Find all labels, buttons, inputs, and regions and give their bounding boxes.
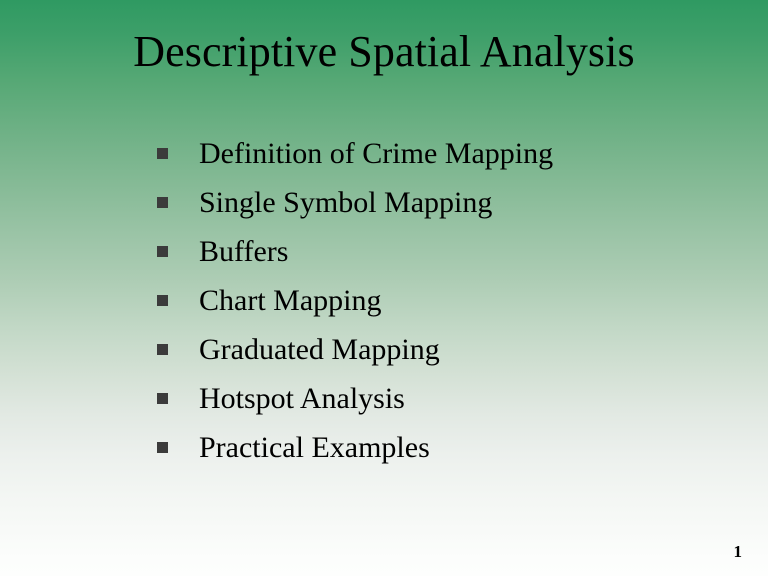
list-item-label: Hotspot Analysis bbox=[199, 379, 405, 419]
page-title: Descriptive Spatial Analysis bbox=[0, 26, 768, 78]
presentation-slide: Descriptive Spatial Analysis Definition … bbox=[0, 0, 768, 576]
square-bullet-icon bbox=[157, 442, 168, 453]
list-item: Practical Examples bbox=[155, 428, 715, 477]
list-item: Buffers bbox=[155, 232, 715, 281]
list-item: Single Symbol Mapping bbox=[155, 183, 715, 232]
list-item: Hotspot Analysis bbox=[155, 379, 715, 428]
page-number: 1 bbox=[734, 542, 743, 562]
list-item: Graduated Mapping bbox=[155, 330, 715, 379]
list-item-label: Definition of Crime Mapping bbox=[199, 134, 553, 174]
list-item: Chart Mapping bbox=[155, 281, 715, 330]
list-item-label: Practical Examples bbox=[199, 428, 430, 468]
list-item-label: Single Symbol Mapping bbox=[199, 183, 492, 223]
list-item-label: Chart Mapping bbox=[199, 281, 381, 321]
list-item-label: Graduated Mapping bbox=[199, 330, 440, 370]
square-bullet-icon bbox=[157, 197, 168, 208]
square-bullet-icon bbox=[157, 295, 168, 306]
list-item-label: Buffers bbox=[199, 232, 288, 272]
bullet-list: Definition of Crime Mapping Single Symbo… bbox=[155, 134, 715, 477]
square-bullet-icon bbox=[157, 344, 168, 355]
square-bullet-icon bbox=[157, 393, 168, 404]
list-item: Definition of Crime Mapping bbox=[155, 134, 715, 183]
square-bullet-icon bbox=[157, 246, 168, 257]
square-bullet-icon bbox=[157, 148, 168, 159]
